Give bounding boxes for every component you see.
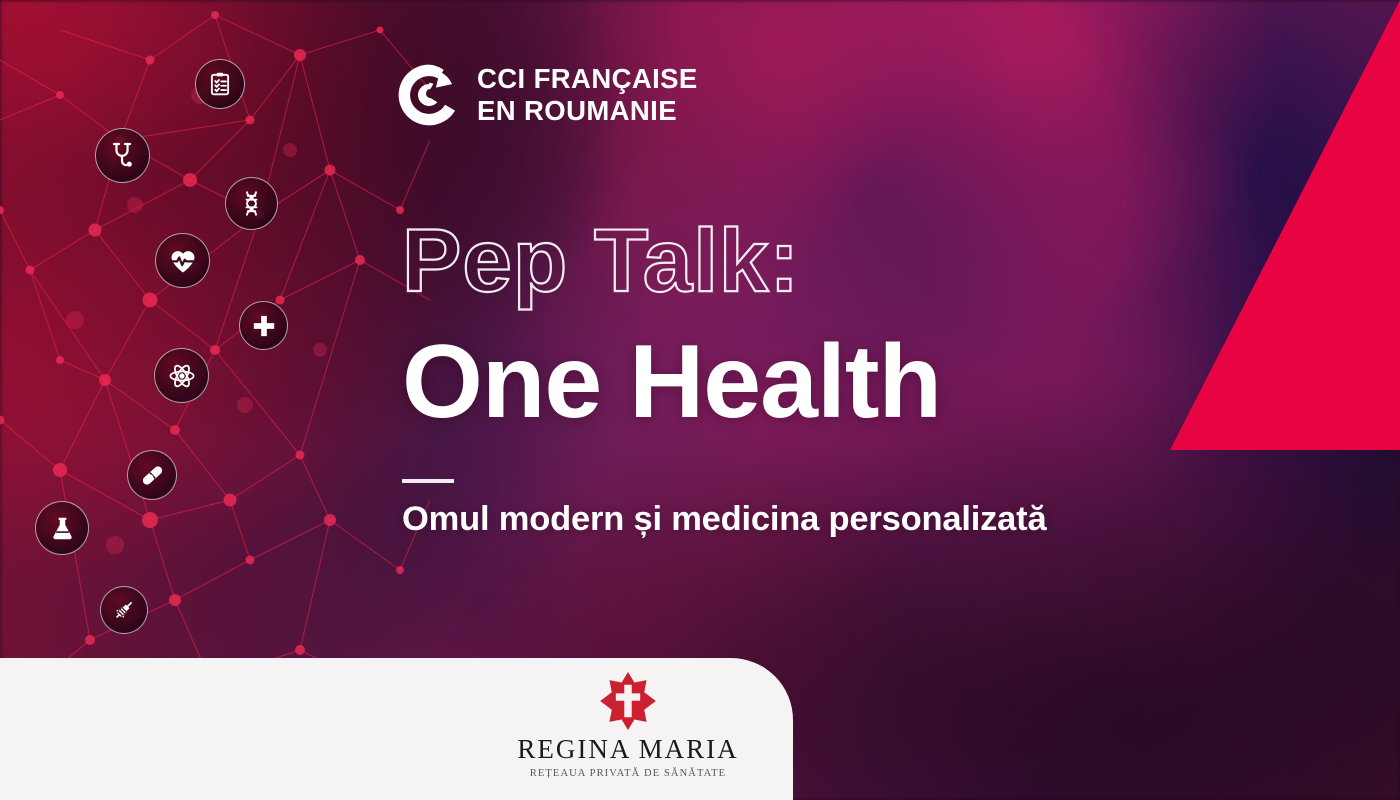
cci-logo-line1: CCI FRANÇAISE <box>477 63 698 95</box>
medical-cross-icon <box>239 301 288 350</box>
regina-maria-name: REGINA MARIA <box>517 734 738 765</box>
heart-pulse-icon <box>155 233 210 288</box>
cci-circle-logo <box>396 62 462 128</box>
regina-maria-logo-lockup: REGINA MARIA REȚEAUA PRIVATĂ DE SĂNĂTATE <box>508 672 748 779</box>
title-divider <box>402 479 454 483</box>
cci-logo-text: CCI FRANÇAISE EN ROUMANIE <box>477 63 698 127</box>
stethoscope-icon <box>95 128 150 183</box>
atom-icon <box>154 348 209 403</box>
eight-pointed-star-cross-icon <box>599 672 657 730</box>
dna-helix-icon <box>225 177 278 230</box>
cci-logo-line2: EN ROUMANIE <box>477 95 698 127</box>
crimson-accent-triangle <box>1140 0 1400 600</box>
cci-logo-lockup: CCI FRANÇAISE EN ROUMANIE <box>396 62 698 128</box>
erlenmeyer-flask-icon <box>35 501 89 555</box>
regina-maria-tagline: REȚEAUA PRIVATĂ DE SĂNĂTATE <box>530 768 726 779</box>
subtitle: Omul modern și medicina personalizată <box>402 500 1046 539</box>
eyebrow-heading: Pep Talk: <box>402 216 800 305</box>
promo-banner: CCI FRANÇAISE EN ROUMANIE Pep Talk: One … <box>0 0 1400 800</box>
clipboard-checklist-icon <box>195 59 245 109</box>
pill-capsule-icon <box>127 450 177 500</box>
page-title: One Health <box>402 330 941 434</box>
syringe-icon <box>100 586 148 634</box>
